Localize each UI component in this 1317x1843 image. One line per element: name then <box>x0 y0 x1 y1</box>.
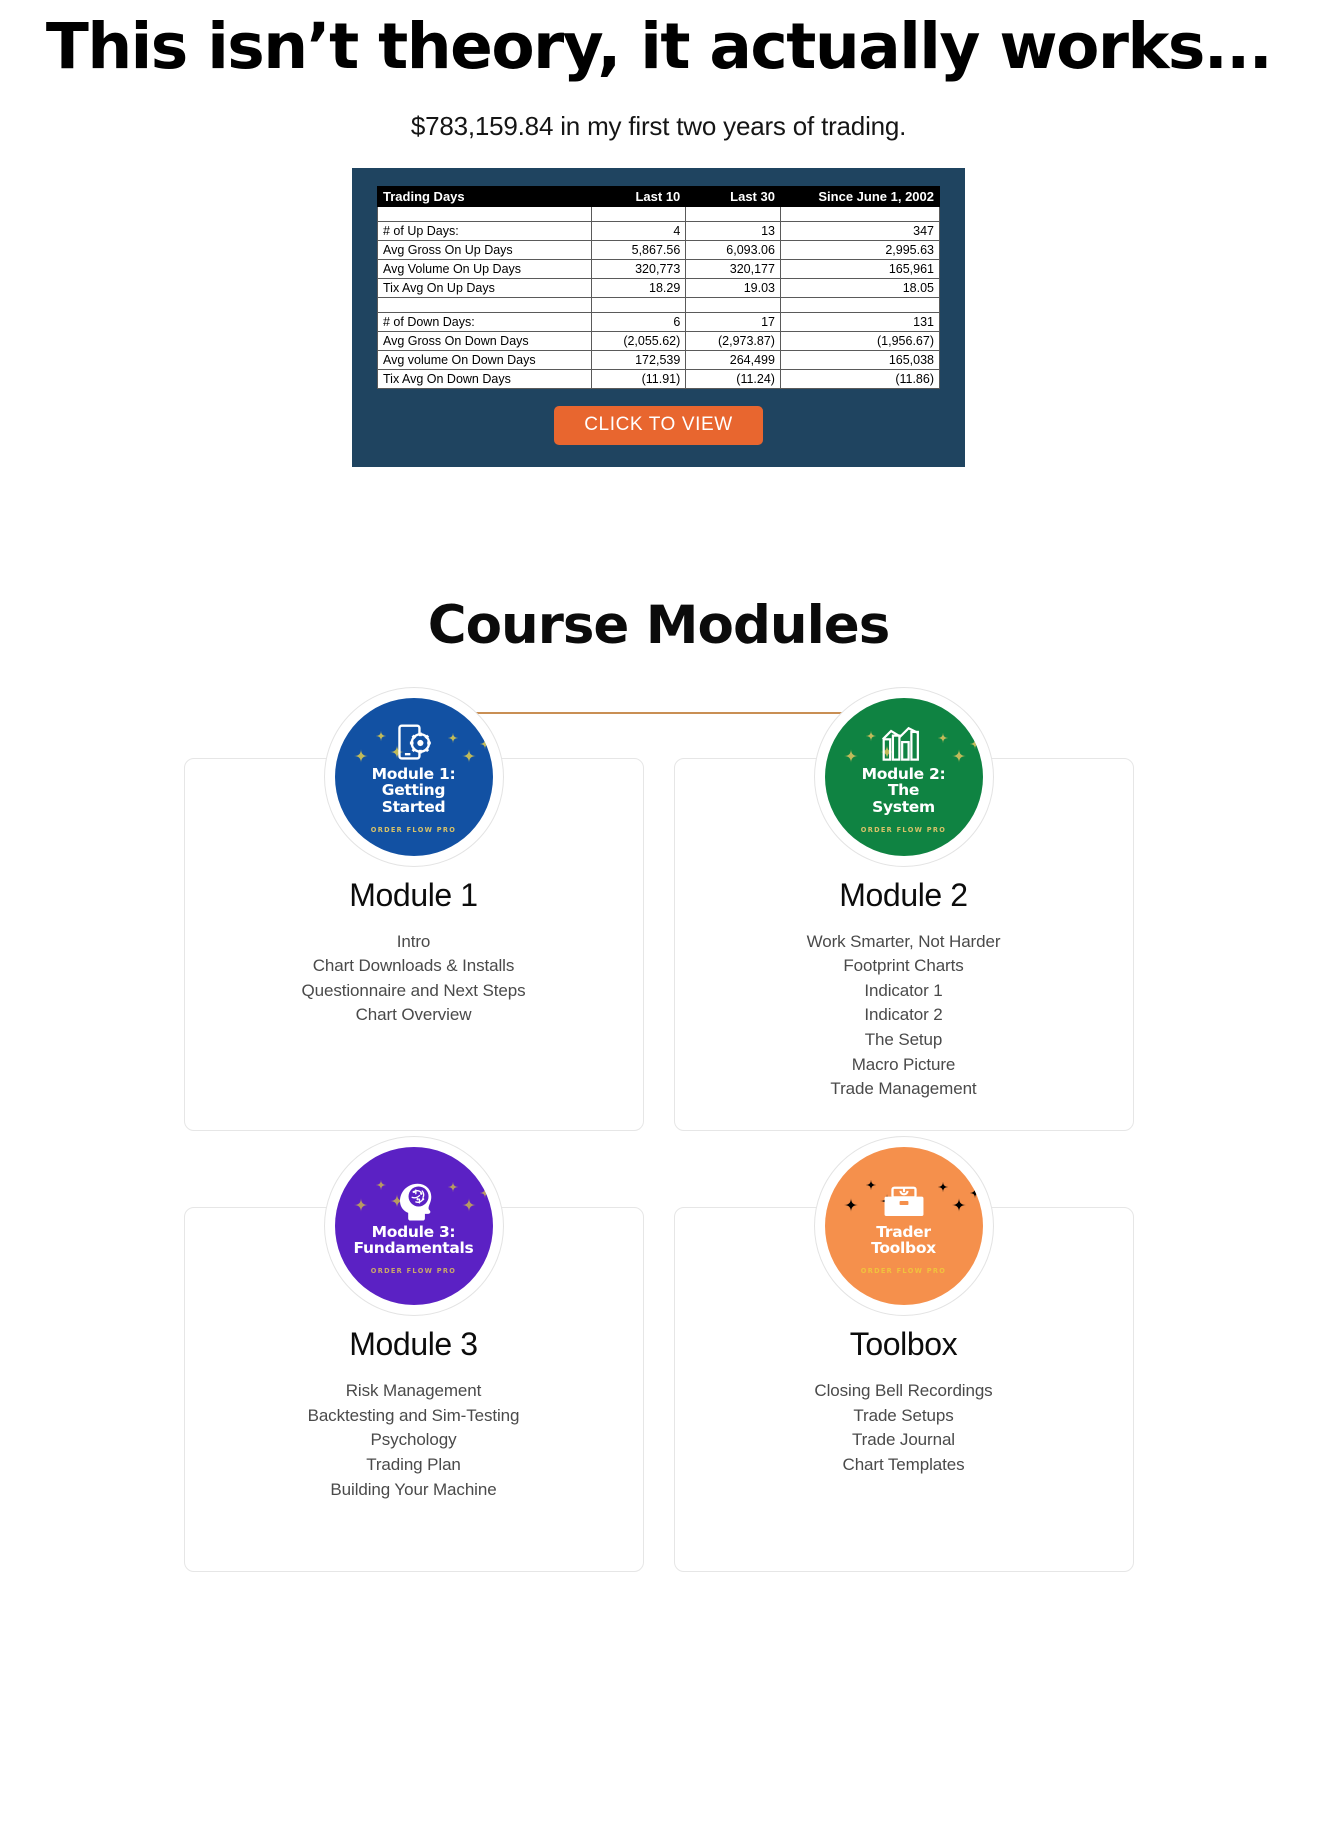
module-card-title: Module 2 <box>699 877 1109 914</box>
table-row <box>378 297 940 312</box>
table-cell-value: 131 <box>780 312 939 331</box>
module-badge-title-line: Toolbox <box>871 1240 936 1256</box>
trading-stats-table: Trading Days Last 10 Last 30 Since June … <box>377 186 940 389</box>
table-head: Trading Days Last 10 Last 30 Since June … <box>378 186 940 206</box>
table-cell-value <box>686 206 781 221</box>
list-item: Chart Templates <box>699 1453 1109 1478</box>
module-card[interactable]: Module 3:FundamentalsORDER FLOW PROModul… <box>184 1207 644 1572</box>
table-cell-value: 19.03 <box>686 278 781 297</box>
table-cell-value: 4 <box>591 221 686 240</box>
table-cell-label <box>378 206 592 221</box>
table-cell-value: 13 <box>686 221 781 240</box>
module-badge-title-line: Trader <box>871 1224 936 1240</box>
module-badge: Module 3:FundamentalsORDER FLOW PRO <box>335 1147 493 1305</box>
module-badge-title-line: The <box>862 782 946 798</box>
module-card-grid: Module 1:GettingStartedORDER FLOW PROMod… <box>184 758 1134 1572</box>
module-badge-brand: ORDER FLOW PRO <box>371 1267 456 1275</box>
table-cell-value: 165,961 <box>780 259 939 278</box>
table-cell-value: 18.05 <box>780 278 939 297</box>
list-item: Chart Overview <box>209 1003 619 1028</box>
list-item: Backtesting and Sim-Testing <box>209 1404 619 1429</box>
module-badge: TraderToolboxORDER FLOW PRO <box>825 1147 983 1305</box>
click-to-view-button[interactable]: CLICK TO VIEW <box>554 406 763 445</box>
module-badge-brand: ORDER FLOW PRO <box>371 826 456 834</box>
table-cell-value: 2,995.63 <box>780 240 939 259</box>
module-badge-ring: Module 3:FundamentalsORDER FLOW PRO <box>324 1136 504 1316</box>
list-item: Trading Plan <box>209 1453 619 1478</box>
stats-panel: Trading Days Last 10 Last 30 Since June … <box>352 168 965 467</box>
module-lesson-list: Risk ManagementBacktesting and Sim-Testi… <box>209 1379 619 1502</box>
list-item: Trade Setups <box>699 1404 1109 1429</box>
table-cell-value: 6 <box>591 312 686 331</box>
list-item: The Setup <box>699 1028 1109 1053</box>
tablet-gear-icon <box>392 723 436 763</box>
list-item: Work Smarter, Not Harder <box>699 930 1109 955</box>
module-badge-title-line: Started <box>372 799 456 815</box>
list-item: Building Your Machine <box>209 1478 619 1503</box>
module-lesson-list: Closing Bell RecordingsTrade SetupsTrade… <box>699 1379 1109 1478</box>
table-cell-label <box>378 297 592 312</box>
table-cell-value: 5,867.56 <box>591 240 686 259</box>
module-lesson-list: Work Smarter, Not HarderFootprint Charts… <box>699 930 1109 1102</box>
table-cell-value: 264,499 <box>686 350 781 369</box>
list-item: Macro Picture <box>699 1053 1109 1078</box>
table-cell-value: (2,973.87) <box>686 331 781 350</box>
module-badge-brand: ORDER FLOW PRO <box>861 826 946 834</box>
table-row <box>378 206 940 221</box>
table-cell-label: Avg Volume On Up Days <box>378 259 592 278</box>
list-item: Risk Management <box>209 1379 619 1404</box>
table-cell-value: 6,093.06 <box>686 240 781 259</box>
list-item: Trade Management <box>699 1077 1109 1102</box>
module-card[interactable]: Module 2:TheSystemORDER FLOW PROModule 2… <box>674 758 1134 1131</box>
table-cell-value: 17 <box>686 312 781 331</box>
table-cell-value <box>591 206 686 221</box>
module-badge-title-line: System <box>862 799 946 815</box>
table-cell-value: (1,956.67) <box>780 331 939 350</box>
course-modules-heading: Course Modules <box>0 595 1317 656</box>
table-cell-value: (11.86) <box>780 369 939 388</box>
cta-row: CLICK TO VIEW <box>377 406 940 445</box>
table-cell-label: # of Up Days: <box>378 221 592 240</box>
table-row: Avg Gross On Down Days(2,055.62)(2,973.8… <box>378 331 940 350</box>
module-badge-title-line: Module 2: <box>862 766 946 782</box>
table-cell-value: 172,539 <box>591 350 686 369</box>
table-header-row: Trading Days Last 10 Last 30 Since June … <box>378 186 940 206</box>
table-cell-label: Avg Gross On Down Days <box>378 331 592 350</box>
table-row: Avg volume On Down Days172,539264,499165… <box>378 350 940 369</box>
bar-chart-icon <box>880 723 928 763</box>
list-item: Psychology <box>209 1428 619 1453</box>
table-header-cell: Last 30 <box>686 186 781 206</box>
list-item: Closing Bell Recordings <box>699 1379 1109 1404</box>
list-item: Footprint Charts <box>699 954 1109 979</box>
module-badge-title-line: Getting <box>372 782 456 798</box>
list-item: Intro <box>209 930 619 955</box>
table-cell-label: Tix Avg On Up Days <box>378 278 592 297</box>
module-card[interactable]: TraderToolboxORDER FLOW PROToolboxClosin… <box>674 1207 1134 1572</box>
table-row: Avg Volume On Up Days320,773320,177165,9… <box>378 259 940 278</box>
module-card-title: Module 3 <box>209 1326 619 1363</box>
section-divider <box>415 712 902 714</box>
table-cell-value: 165,038 <box>780 350 939 369</box>
toolbox-icon <box>881 1181 927 1221</box>
module-card[interactable]: Module 1:GettingStartedORDER FLOW PROMod… <box>184 758 644 1131</box>
module-badge-ring: Module 1:GettingStartedORDER FLOW PRO <box>324 687 504 867</box>
table-cell-value: (11.91) <box>591 369 686 388</box>
table-header-cell: Last 10 <box>591 186 686 206</box>
module-badge-title-line: Module 1: <box>372 766 456 782</box>
module-badge: Module 1:GettingStartedORDER FLOW PRO <box>335 698 493 856</box>
hero-subtitle: $783,159.84 in my first two years of tra… <box>0 111 1317 142</box>
module-badge-title: Module 3:Fundamentals <box>354 1224 474 1256</box>
table-cell-value: (11.24) <box>686 369 781 388</box>
table-row: Tix Avg On Down Days(11.91)(11.24)(11.86… <box>378 369 940 388</box>
table-header-cell: Trading Days <box>378 186 592 206</box>
table-cell-value: 320,177 <box>686 259 781 278</box>
module-badge-title: Module 2:TheSystem <box>862 766 946 814</box>
table-body: # of Up Days:413347Avg Gross On Up Days5… <box>378 206 940 388</box>
table-cell-value <box>780 297 939 312</box>
module-badge-title: Module 1:GettingStarted <box>372 766 456 814</box>
head-brain-icon <box>393 1181 435 1221</box>
list-item: Trade Journal <box>699 1428 1109 1453</box>
module-badge-ring: TraderToolboxORDER FLOW PRO <box>814 1136 994 1316</box>
table-row: # of Up Days:413347 <box>378 221 940 240</box>
table-cell-value: 18.29 <box>591 278 686 297</box>
module-lesson-list: IntroChart Downloads & InstallsQuestionn… <box>209 930 619 1029</box>
list-item: Chart Downloads & Installs <box>209 954 619 979</box>
table-cell-value: (2,055.62) <box>591 331 686 350</box>
module-badge-brand: ORDER FLOW PRO <box>861 1267 946 1275</box>
table-cell-label: Avg volume On Down Days <box>378 350 592 369</box>
module-badge-title-line: Module 3: <box>354 1224 474 1240</box>
module-badge: Module 2:TheSystemORDER FLOW PRO <box>825 698 983 856</box>
table-cell-label: # of Down Days: <box>378 312 592 331</box>
table-cell-value: 320,773 <box>591 259 686 278</box>
module-card-title: Toolbox <box>699 1326 1109 1363</box>
table-cell-label: Tix Avg On Down Days <box>378 369 592 388</box>
table-cell-value <box>780 206 939 221</box>
module-card-title: Module 1 <box>209 877 619 914</box>
module-badge-title-line: Fundamentals <box>354 1240 474 1256</box>
page-title: This isn’t theory, it actually works... <box>0 0 1317 83</box>
module-badge-ring: Module 2:TheSystemORDER FLOW PRO <box>814 687 994 867</box>
table-row: Avg Gross On Up Days5,867.566,093.062,99… <box>378 240 940 259</box>
table-cell-value <box>686 297 781 312</box>
table-row: # of Down Days:617131 <box>378 312 940 331</box>
table-header-cell: Since June 1, 2002 <box>780 186 939 206</box>
table-row: Tix Avg On Up Days18.2919.0318.05 <box>378 278 940 297</box>
table-cell-label: Avg Gross On Up Days <box>378 240 592 259</box>
list-item: Indicator 1 <box>699 979 1109 1004</box>
table-cell-value <box>591 297 686 312</box>
list-item: Questionnaire and Next Steps <box>209 979 619 1004</box>
stats-panel-wrap: Trading Days Last 10 Last 30 Since June … <box>0 168 1317 467</box>
module-badge-title: TraderToolbox <box>871 1224 936 1256</box>
table-cell-value: 347 <box>780 221 939 240</box>
list-item: Indicator 2 <box>699 1003 1109 1028</box>
